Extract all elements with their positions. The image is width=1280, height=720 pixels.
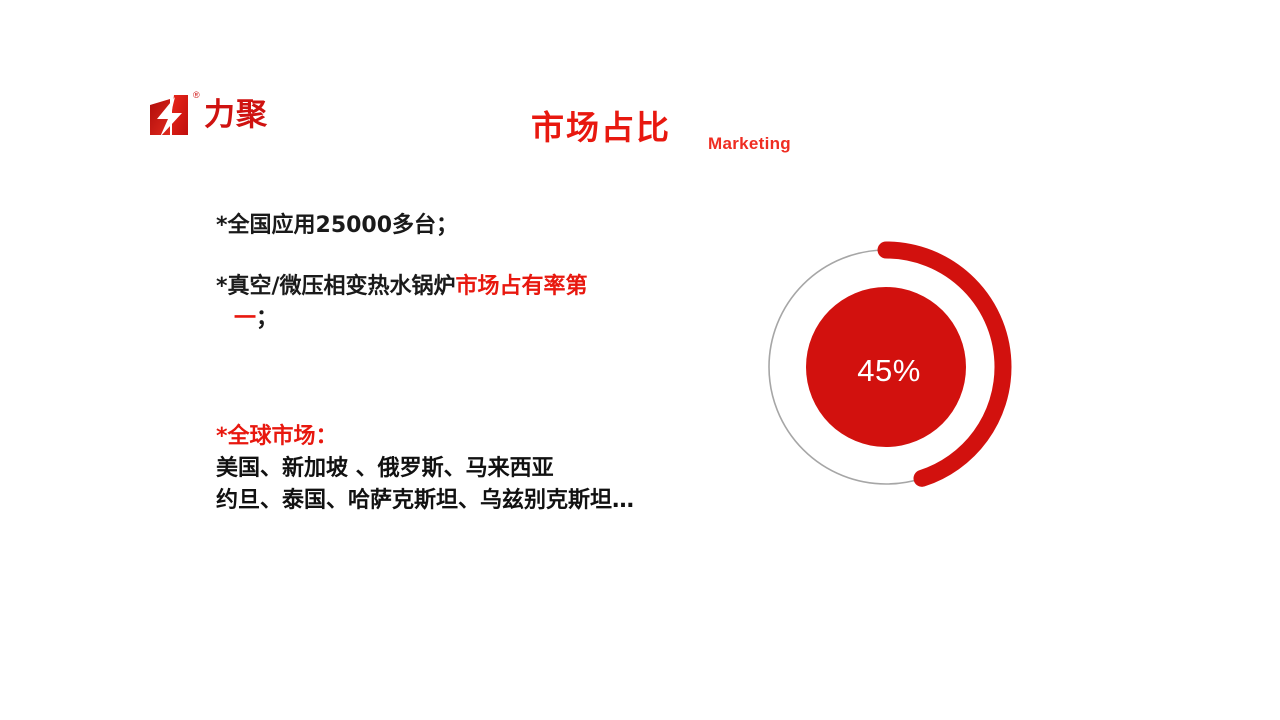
bullet-item-2: *真空/微压相变热水锅炉市场占有率第 一； bbox=[216, 271, 686, 335]
bullet-2-cont-red: 一 bbox=[216, 306, 256, 331]
donut-center-disc bbox=[806, 287, 966, 447]
global-market-line-1: 美国、新加坡 、俄罗斯、马来西亚 bbox=[216, 453, 634, 485]
bullet-2-cont-black: ； bbox=[256, 306, 278, 331]
global-market-block: *全球市场： 美国、新加坡 、俄罗斯、马来西亚 约旦、泰国、哈萨克斯坦、乌兹别克… bbox=[216, 420, 634, 517]
logo-wordmark: 力聚 bbox=[204, 100, 268, 133]
page-subtitle: Marketing bbox=[708, 134, 791, 154]
slide-canvas: ® 力聚 市场占比 Marketing *全国应用25000多台； *真空/微压… bbox=[0, 0, 1280, 720]
global-market-line-2: 约旦、泰国、哈萨克斯坦、乌兹别克斯坦… bbox=[216, 485, 634, 517]
bullet-item-1: *全国应用25000多台； bbox=[216, 210, 458, 242]
bullet-2-text-black: *真空/微压相变热水锅炉 bbox=[216, 274, 456, 299]
bullet-2-text-red: 市场占有率第 bbox=[456, 274, 588, 299]
brand-logo: ® 力聚 bbox=[148, 88, 348, 144]
lightning-bolt-logo-icon: ® bbox=[148, 91, 200, 141]
global-market-heading: *全球市场： bbox=[216, 420, 634, 453]
market-share-donut-chart: 45% bbox=[750, 230, 1030, 510]
page-title: 市场占比 bbox=[531, 108, 671, 148]
registered-trademark-icon: ® bbox=[193, 91, 200, 100]
